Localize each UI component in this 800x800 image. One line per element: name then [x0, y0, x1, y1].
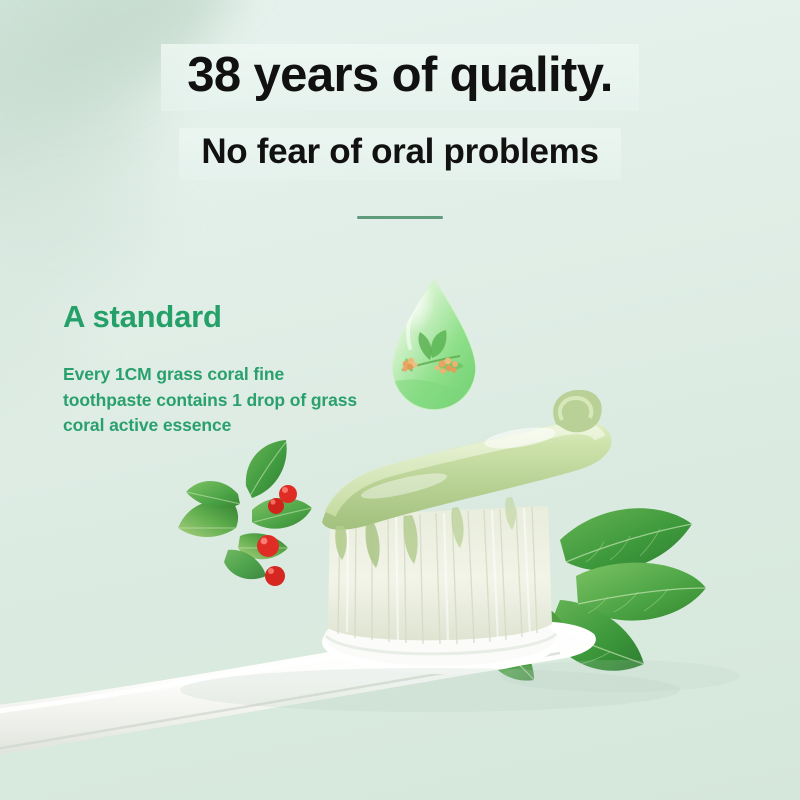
berry-sprig	[178, 440, 312, 586]
subheadline-plate: No fear of oral problems	[179, 128, 620, 180]
poster-canvas: 38 years of quality. No fear of oral pro…	[0, 0, 800, 800]
headline-block: 38 years of quality.	[0, 44, 800, 111]
leaf-shadow-band	[0, 0, 245, 222]
divider-rule	[357, 216, 443, 219]
section-title: A standard	[63, 298, 222, 335]
page-title: 38 years of quality.	[187, 48, 613, 103]
product-photo	[0, 390, 800, 800]
headline-plate: 38 years of quality.	[161, 44, 639, 111]
page-subtitle: No fear of oral problems	[201, 132, 598, 172]
subheadline-block: No fear of oral problems	[0, 128, 800, 180]
